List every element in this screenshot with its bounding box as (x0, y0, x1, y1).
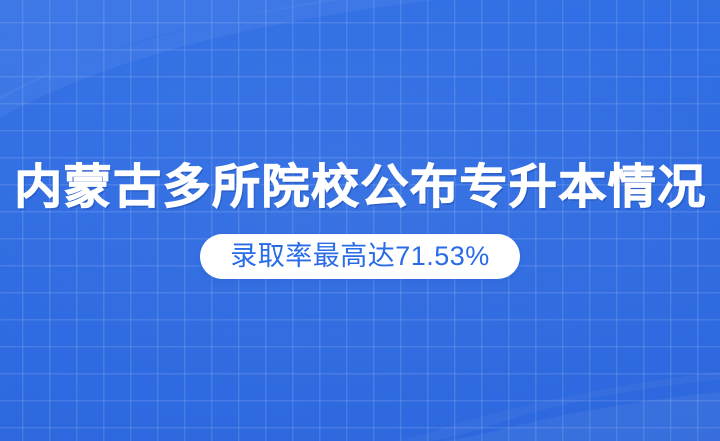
subtitle-text: 录取率最高达71.53% (230, 243, 490, 270)
banner-content: 内蒙古多所院校公布专升本情况 录取率最高达71.53% (0, 0, 720, 441)
banner-headline: 内蒙古多所院校公布专升本情况 (14, 163, 707, 210)
promo-banner: 内蒙古多所院校公布专升本情况 录取率最高达71.53% (0, 0, 720, 441)
subtitle-pill: 录取率最高达71.53% (200, 234, 520, 279)
